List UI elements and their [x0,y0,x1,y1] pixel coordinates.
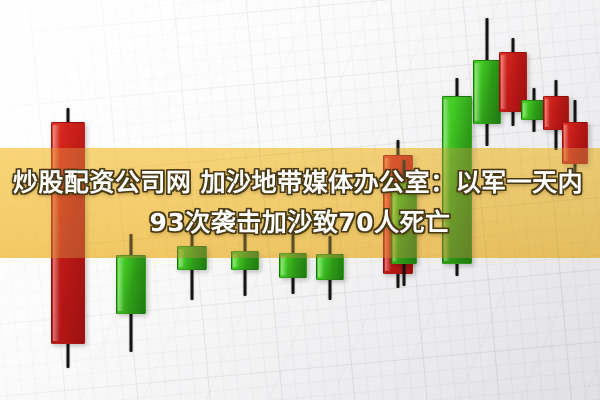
candle-body [473,60,501,124]
banner-band-tint [0,148,600,258]
green-candle-icon [473,18,501,146]
screenshot-canvas: 炒股配资公司网 加沙地带媒体办公室：以军一天内 93次袭击加沙致70人死亡 [0,0,600,400]
candle-body [116,255,146,314]
